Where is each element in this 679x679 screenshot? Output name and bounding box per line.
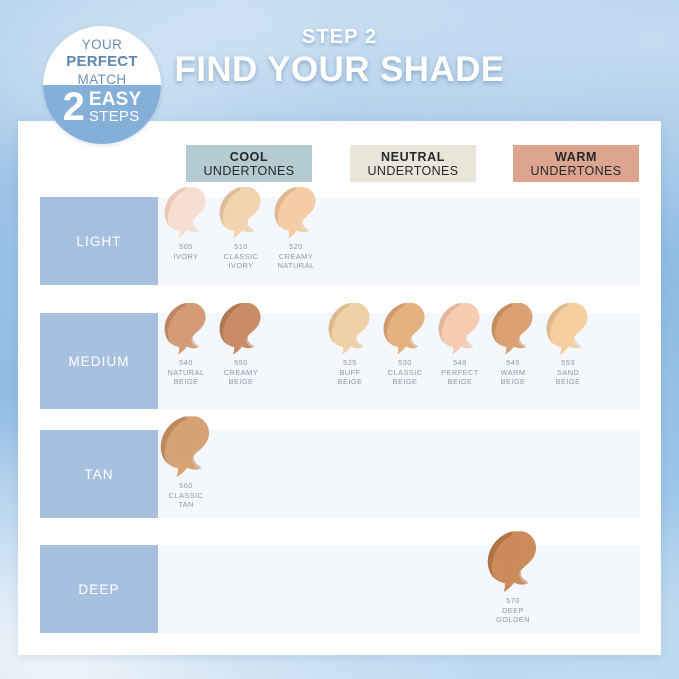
shade-code: 560 — [169, 481, 204, 491]
shade-swatch-530[interactable]: 530CLASSICBEIGE — [376, 313, 434, 409]
badge-line-easy: EASY — [89, 90, 142, 109]
shade-name-line-2: GOLDEN — [496, 615, 530, 625]
badge-line-match: MATCH — [43, 72, 161, 88]
shade-swatch-525[interactable]: 525BUFFBEIGE — [321, 313, 379, 409]
shade-code: 545 — [501, 358, 526, 368]
shade-name-line-2: NATURAL — [277, 261, 314, 271]
shade-name-line-1: WARM — [501, 368, 526, 378]
undertone-header-cool: COOL UNDERTONES — [186, 145, 312, 182]
shade-caption: 550CREAMYBEIGE — [224, 358, 258, 387]
shade-row-light: LIGHT 505IVORY510CLASSICIVORY520CREAMYNA… — [40, 197, 640, 285]
shade-name-line-1: BUFF — [338, 368, 363, 378]
shade-name-line-1: CLASSIC — [224, 252, 259, 262]
shade-name-line-2: BEIGE — [224, 377, 258, 387]
shade-swatch-570[interactable]: 570DEEPGOLDEN — [484, 545, 542, 633]
foundation-smear-icon — [274, 185, 318, 241]
badge-easy-steps: EASY STEPS — [89, 90, 142, 124]
shade-row-deep: DEEP 570DEEPGOLDEN — [40, 545, 640, 633]
shade-row-tan: TAN 560CLASSICTAN — [40, 430, 640, 518]
undertone-sub: UNDERTONES — [530, 164, 621, 178]
shade-row-medium: MEDIUM 540NATURALBEIGE550CREAMYBEIGE525B… — [40, 313, 640, 409]
shade-name-line-1: NATURAL — [167, 368, 204, 378]
shade-code: 505 — [173, 242, 198, 252]
badge-top-text: YOUR PERFECT MATCH — [43, 37, 161, 88]
shade-code: 550 — [224, 358, 258, 368]
category-label-medium: MEDIUM — [40, 313, 158, 409]
shade-name-line-2: BEIGE — [501, 377, 526, 387]
shade-swatch-540[interactable]: 540NATURALBEIGE — [157, 313, 215, 409]
badge-line-steps: STEPS — [89, 109, 142, 124]
shade-caption: 525BUFFBEIGE — [338, 358, 363, 387]
shade-caption: 505IVORY — [173, 242, 198, 261]
shade-code: 540 — [167, 358, 204, 368]
shade-swatch-560[interactable]: 560CLASSICTAN — [157, 430, 215, 518]
shade-code: 553 — [556, 358, 581, 368]
shade-caption: 520CREAMYNATURAL — [277, 242, 314, 271]
shade-code: 570 — [496, 596, 530, 606]
undertone-sub: UNDERTONES — [203, 164, 294, 178]
shade-swatch-550[interactable]: 550CREAMYBEIGE — [212, 313, 270, 409]
undertone-name: WARM — [555, 150, 597, 164]
shade-caption: 530CLASSICBEIGE — [388, 358, 423, 387]
category-label-tan: TAN — [40, 430, 158, 518]
badge-line-perfect: PERFECT — [43, 53, 161, 71]
shade-swatch-553[interactable]: 553SANDBEIGE — [539, 313, 597, 409]
foundation-smear-icon — [160, 414, 212, 480]
foundation-smear-icon — [546, 301, 590, 357]
shade-code: 520 — [277, 242, 314, 252]
shade-name-line-2: BEIGE — [167, 377, 204, 387]
shade-name-line-1: CREAMY — [224, 368, 258, 378]
shade-code: 510 — [224, 242, 259, 252]
undertone-name: NEUTRAL — [381, 150, 445, 164]
shade-name-line-1: IVORY — [173, 252, 198, 262]
shade-caption: 545WARMBEIGE — [501, 358, 526, 387]
foundation-smear-icon — [487, 529, 539, 595]
shade-name-line-2: TAN — [169, 500, 204, 510]
foundation-smear-icon — [383, 301, 427, 357]
foundation-smear-icon — [491, 301, 535, 357]
perfect-match-badge: YOUR PERFECT MATCH 2 EASY STEPS — [43, 26, 161, 144]
shade-name-line-1: CLASSIC — [169, 491, 204, 501]
shade-name-line-1: PERFECT — [441, 368, 479, 378]
foundation-smear-icon — [438, 301, 482, 357]
shade-name-line-2: BEIGE — [556, 377, 581, 387]
shade-caption: 548PERFECTBEIGE — [441, 358, 479, 387]
shade-swatch-520[interactable]: 520CREAMYNATURAL — [267, 197, 325, 285]
shade-name-line-1: DEEP — [496, 606, 530, 616]
shade-swatch-545[interactable]: 545WARMBEIGE — [484, 313, 542, 409]
shade-code: 530 — [388, 358, 423, 368]
shade-swatch-510[interactable]: 510CLASSICIVORY — [212, 197, 270, 285]
foundation-smear-icon — [219, 185, 263, 241]
foundation-smear-icon — [328, 301, 372, 357]
shade-caption: 553SANDBEIGE — [556, 358, 581, 387]
foundation-smear-icon — [219, 301, 263, 357]
shade-name-line-2: BEIGE — [441, 377, 479, 387]
undertone-name: COOL — [230, 150, 269, 164]
foundation-smear-icon — [164, 301, 208, 357]
shade-code: 548 — [441, 358, 479, 368]
shade-name-line-1: CREAMY — [277, 252, 314, 262]
undertone-header-neutral: NEUTRAL UNDERTONES — [350, 145, 476, 182]
shade-name-line-1: CLASSIC — [388, 368, 423, 378]
shade-caption: 570DEEPGOLDEN — [496, 596, 530, 625]
foundation-smear-icon — [164, 185, 208, 241]
category-label-light: LIGHT — [40, 197, 158, 285]
shade-name-line-2: IVORY — [224, 261, 259, 271]
shade-caption: 560CLASSICTAN — [169, 481, 204, 510]
shade-caption: 540NATURALBEIGE — [167, 358, 204, 387]
undertone-header-warm: WARM UNDERTONES — [513, 145, 639, 182]
badge-step-number: 2 — [63, 89, 85, 125]
badge-bottom-text: 2 EASY STEPS — [43, 89, 161, 125]
shade-name-line-1: SAND — [556, 368, 581, 378]
shade-swatch-548[interactable]: 548PERFECTBEIGE — [431, 313, 489, 409]
badge-line-your: YOUR — [43, 37, 161, 53]
category-label-deep: DEEP — [40, 545, 158, 633]
shade-name-line-2: BEIGE — [338, 377, 363, 387]
shade-caption: 510CLASSICIVORY — [224, 242, 259, 271]
shade-code: 525 — [338, 358, 363, 368]
undertone-sub: UNDERTONES — [367, 164, 458, 178]
shade-name-line-2: BEIGE — [388, 377, 423, 387]
shade-swatch-505[interactable]: 505IVORY — [157, 197, 215, 285]
